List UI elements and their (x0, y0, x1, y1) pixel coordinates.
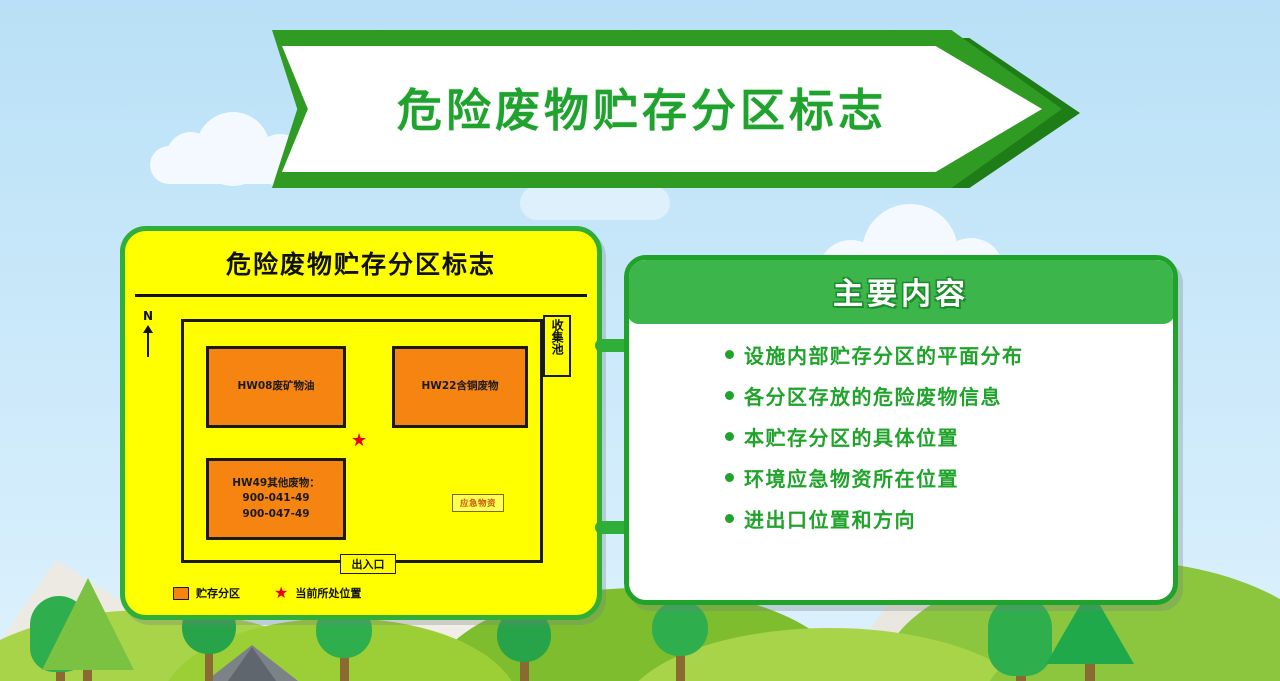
tree-crown-7 (988, 596, 1052, 676)
title-banner: 危险废物贮存分区标志 (272, 22, 1072, 190)
main-content-list: 设施内部贮存分区的平面分布 各分区存放的危险废物信息 本贮存分区的具体位置 环境… (629, 334, 1173, 545)
list-item: 本贮存分区的具体位置 (725, 422, 1173, 451)
north-label: N (143, 309, 153, 323)
zone-hw22: HW22含铜废物 (392, 346, 528, 428)
hazardous-waste-sign-panel: 危险废物贮存分区标志 N HW08废矿物油 HW22含铜废物 HW49其他废物：… (120, 226, 602, 620)
zone-hw08-label: HW08废矿物油 (238, 379, 315, 394)
emergency-supplies-marker: 应急物资 (452, 494, 504, 512)
main-content-panel: 主要内容 设施内部贮存分区的平面分布 各分区存放的危险废物信息 本贮存分区的具体… (624, 255, 1178, 605)
north-arrow-shaft (147, 331, 149, 357)
main-content-header: 主要内容 (627, 258, 1175, 324)
legend-label-storage-zone: 贮存分区 (196, 585, 240, 601)
current-position-star: ★ (351, 432, 367, 450)
orange-square-icon (173, 587, 189, 600)
list-item-label: 本贮存分区的具体位置 (744, 422, 959, 451)
tree-crown-6 (652, 600, 708, 656)
list-item-label: 设施内部贮存分区的平面分布 (744, 340, 1024, 369)
bullet-dot-icon (725, 514, 734, 523)
sign-title: 危险废物贮存分区标志 (125, 245, 597, 281)
list-item-label: 进出口位置和方向 (744, 504, 916, 533)
bullet-dot-icon (725, 391, 734, 400)
bullet-dot-icon (725, 350, 734, 359)
page-title: 危险废物贮存分区标志 (272, 74, 1012, 139)
poster-canvas: 危险废物贮存分区标志 危险废物贮存分区标志 N HW08废矿物油 HW22含铜废… (0, 0, 1280, 681)
zone-hw49-label: HW49其他废物： 900-041-49 900-047-49 (232, 476, 319, 522)
bullet-dot-icon (725, 432, 734, 441)
list-item-label: 各分区存放的危险废物信息 (744, 381, 1002, 410)
legend-label-current-position: 当前所处位置 (295, 585, 361, 601)
list-item: 进出口位置和方向 (725, 504, 1173, 533)
list-item: 各分区存放的危险废物信息 (725, 381, 1173, 410)
collection-pool-label: 收集池 (551, 319, 563, 355)
list-item-label: 环境应急物资所在位置 (744, 463, 959, 492)
legend-item-current-position: ★ 当前所处位置 (274, 585, 361, 601)
map-legend: 贮存分区 ★ 当前所处位置 (173, 585, 361, 601)
site-map-outline: HW08废矿物油 HW22含铜废物 HW49其他废物： 900-041-49 9… (181, 319, 543, 563)
sign-divider (135, 294, 587, 297)
emergency-supplies-label: 应急物资 (460, 497, 496, 509)
entrance-exit-marker: 出入口 (340, 554, 396, 574)
red-star-icon: ★ (274, 585, 288, 601)
zone-hw49: HW49其他废物： 900-041-49 900-047-49 (206, 458, 346, 540)
zone-hw22-label: HW22含铜废物 (422, 379, 499, 394)
list-item: 设施内部贮存分区的平面分布 (725, 340, 1173, 369)
bullet-dot-icon (725, 473, 734, 482)
legend-item-storage-zone: 贮存分区 (173, 585, 240, 601)
north-arrow-head (143, 325, 153, 333)
collection-pool-marker: 收集池 (543, 315, 571, 377)
list-item: 环境应急物资所在位置 (725, 463, 1173, 492)
tent-shadow (228, 647, 276, 681)
zone-hw08: HW08废矿物油 (206, 346, 346, 428)
entrance-exit-label: 出入口 (352, 556, 385, 572)
main-content-heading: 主要内容 (833, 269, 969, 313)
